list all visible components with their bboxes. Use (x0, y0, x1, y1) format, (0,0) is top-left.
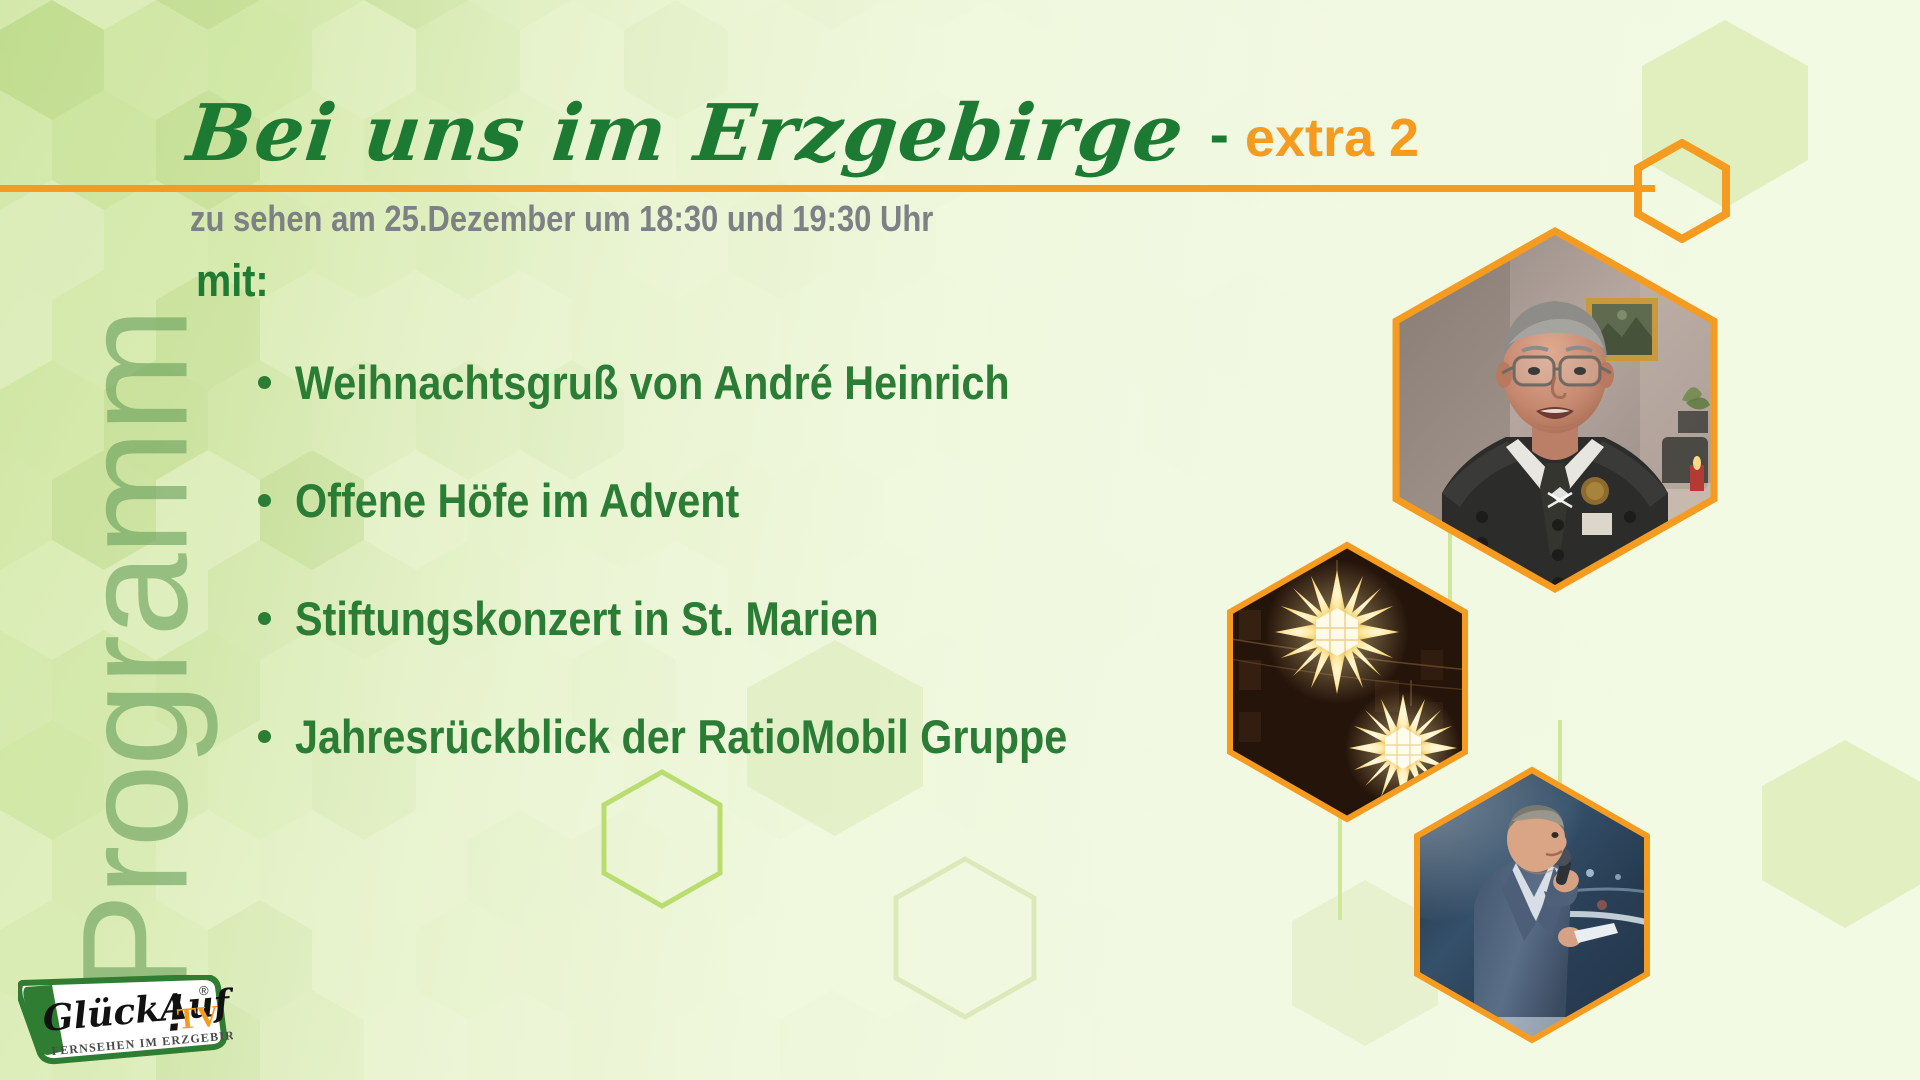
list-item-label: Weihnachtsgruß von André Heinrich (295, 355, 1010, 410)
slide-canvas: Bei uns im Erzgebirge - extra 2 zu sehen… (0, 0, 1920, 1080)
page-title-script: Bei uns im Erzgebirge (184, 95, 1188, 173)
page-title-extra: extra 2 (1245, 107, 1419, 169)
logo-registered-icon: ® (199, 983, 209, 998)
bullet-dot-icon (258, 494, 271, 507)
broadcast-time-subtitle: zu sehen am 25.Dezember um 18:30 und 19:… (190, 198, 933, 240)
list-item: Weihnachtsgruß von André Heinrich (258, 355, 1173, 473)
list-item-label: Offene Höfe im Advent (295, 473, 739, 528)
decorative-hexagon-outline-2 (890, 855, 1040, 1021)
bullet-dot-icon (258, 612, 271, 625)
header-divider-rule (0, 185, 1655, 192)
list-item-label: Jahresrückblick der RatioMobil Gruppe (295, 709, 1067, 764)
section-label-programm: Programm (49, 272, 222, 1032)
list-item: Offene Höfe im Advent (258, 473, 1173, 591)
bullet-dot-icon (258, 730, 271, 743)
photo-hexagon-speaker-with-microphone (1412, 765, 1652, 1045)
page-title-dash: - (1210, 101, 1229, 168)
list-item: Stiftungskonzert in St. Marien (258, 591, 1173, 709)
glueckauf-tv-logo[interactable]: GlückAuf ! ® TV FERNSEHEN IM ERZGEBIRGE (18, 975, 233, 1070)
decorative-hexagon-filled-3 (1760, 740, 1920, 930)
program-list: Weihnachtsgruß von André Heinrich Offene… (258, 355, 1173, 827)
list-item: Jahresrückblick der RatioMobil Gruppe (258, 709, 1173, 827)
bullet-dot-icon (258, 376, 271, 389)
page-title: Bei uns im Erzgebirge - extra 2 (188, 95, 1419, 174)
with-label: mit: (196, 255, 269, 307)
list-item-label: Stiftungskonzert in St. Marien (295, 591, 879, 646)
